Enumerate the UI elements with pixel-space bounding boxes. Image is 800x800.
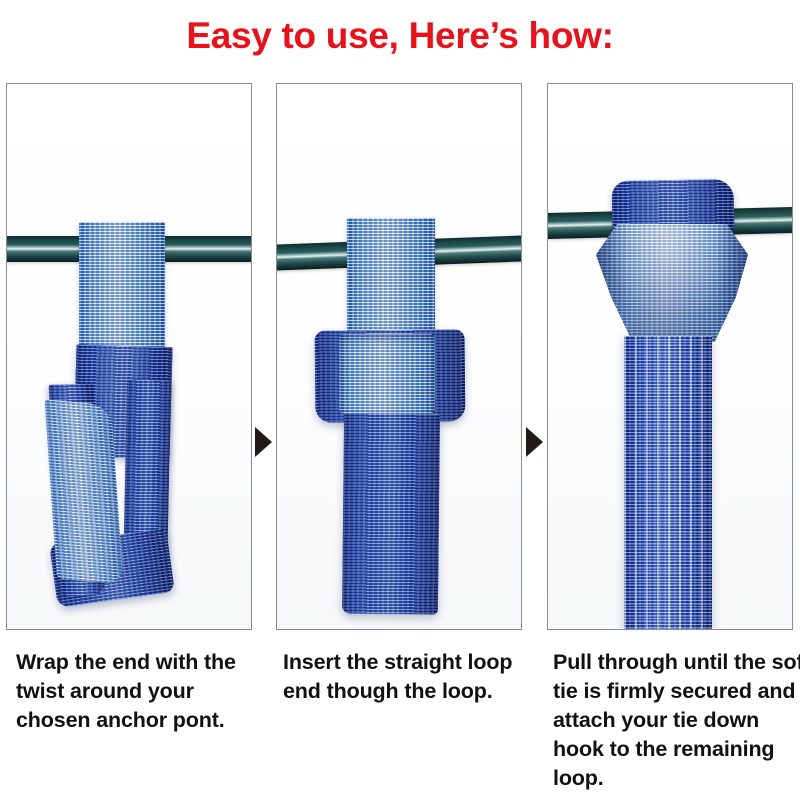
step-1-image-panel: 1 (6, 83, 252, 630)
step-2-image-panel: 2 (276, 83, 522, 630)
step-3-image-panel: 3 (547, 83, 793, 630)
step-1-caption: Wrap the end with the twist around your … (16, 648, 264, 735)
step-2-photo (277, 84, 521, 629)
strap-over-bar (79, 222, 165, 350)
arrow-step1-to-step2-icon (255, 427, 272, 457)
strap-tail (624, 336, 712, 629)
strap-tail (342, 414, 440, 615)
page-title: Easy to use, Here’s how: (0, 14, 800, 58)
step-1-photo (7, 84, 251, 629)
steps-panel-row: 1 2 3 (0, 83, 800, 631)
step-3-caption: Pull through until the soft tie is firml… (553, 648, 800, 793)
step-3-photo (548, 84, 792, 629)
strap-inserted-end (339, 334, 435, 414)
strap-twist-face (44, 399, 123, 584)
step-2-caption: Insert the straight loop end though the … (283, 648, 533, 706)
strap-knot-shading (596, 224, 748, 342)
arrow-step2-to-step3-icon (526, 427, 543, 457)
